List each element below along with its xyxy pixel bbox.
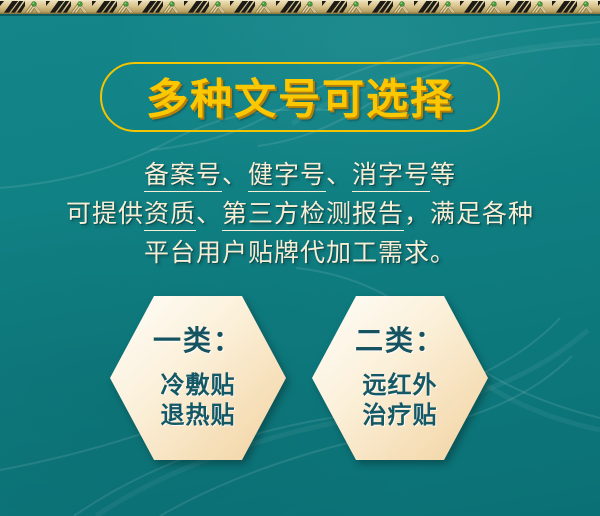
ornamental-top-border bbox=[0, 0, 600, 14]
description-line: 备案号、健字号、消字号等 bbox=[20, 155, 580, 194]
hexagon-two-subline: 远红外 bbox=[363, 370, 438, 400]
plain-phrase: 平台用户贴牌代加工需求。 bbox=[144, 238, 456, 267]
underlined-phrase: 资质 bbox=[144, 199, 196, 231]
description-line: 可提供资质、第三方检测报告，满足各种 bbox=[20, 194, 580, 233]
underlined-phrase: 健字号 bbox=[248, 160, 326, 192]
plain-phrase: ，满足各种 bbox=[404, 199, 534, 228]
page-title: 多种文号可选择 bbox=[102, 65, 498, 126]
category-hexagon-one[interactable]: 一类： 冷敷贴 退热贴 bbox=[110, 296, 286, 460]
hexagon-one-subline: 冷敷贴 bbox=[161, 370, 236, 400]
plain-phrase: 、 bbox=[196, 199, 222, 228]
underlined-phrase: 消字号 bbox=[352, 160, 430, 192]
promo-poster: 多种文号可选择 备案号、健字号、消字号等 可提供资质、第三方检测报告，满足各种 … bbox=[0, 0, 600, 516]
plain-phrase: 、 bbox=[326, 160, 352, 189]
plain-phrase: 、 bbox=[222, 160, 248, 189]
category-hexagon-two[interactable]: 二类： 远红外 治疗贴 bbox=[312, 296, 488, 460]
description-paragraph: 备案号、健字号、消字号等 可提供资质、第三方检测报告，满足各种 平台用户贴牌代加… bbox=[20, 155, 580, 272]
plain-phrase: 可提供 bbox=[66, 199, 144, 228]
underlined-phrase: 第三方检测报告 bbox=[222, 199, 404, 231]
hexagon-two-heading: 二类： bbox=[355, 326, 445, 356]
border-underline bbox=[0, 14, 600, 16]
hexagon-one-heading: 一类： bbox=[153, 326, 243, 356]
hexagon-two-content: 二类： 远红外 治疗贴 bbox=[312, 296, 488, 460]
hexagon-two-subline: 治疗贴 bbox=[363, 400, 438, 430]
plain-phrase: 等 bbox=[430, 160, 456, 189]
description-line: 平台用户贴牌代加工需求。 bbox=[20, 233, 580, 272]
hexagon-one-content: 一类： 冷敷贴 退热贴 bbox=[110, 296, 286, 460]
title-frame: 多种文号可选择 bbox=[100, 62, 500, 132]
hexagon-one-subline: 退热贴 bbox=[161, 400, 236, 430]
underlined-phrase: 备案号 bbox=[144, 160, 222, 192]
